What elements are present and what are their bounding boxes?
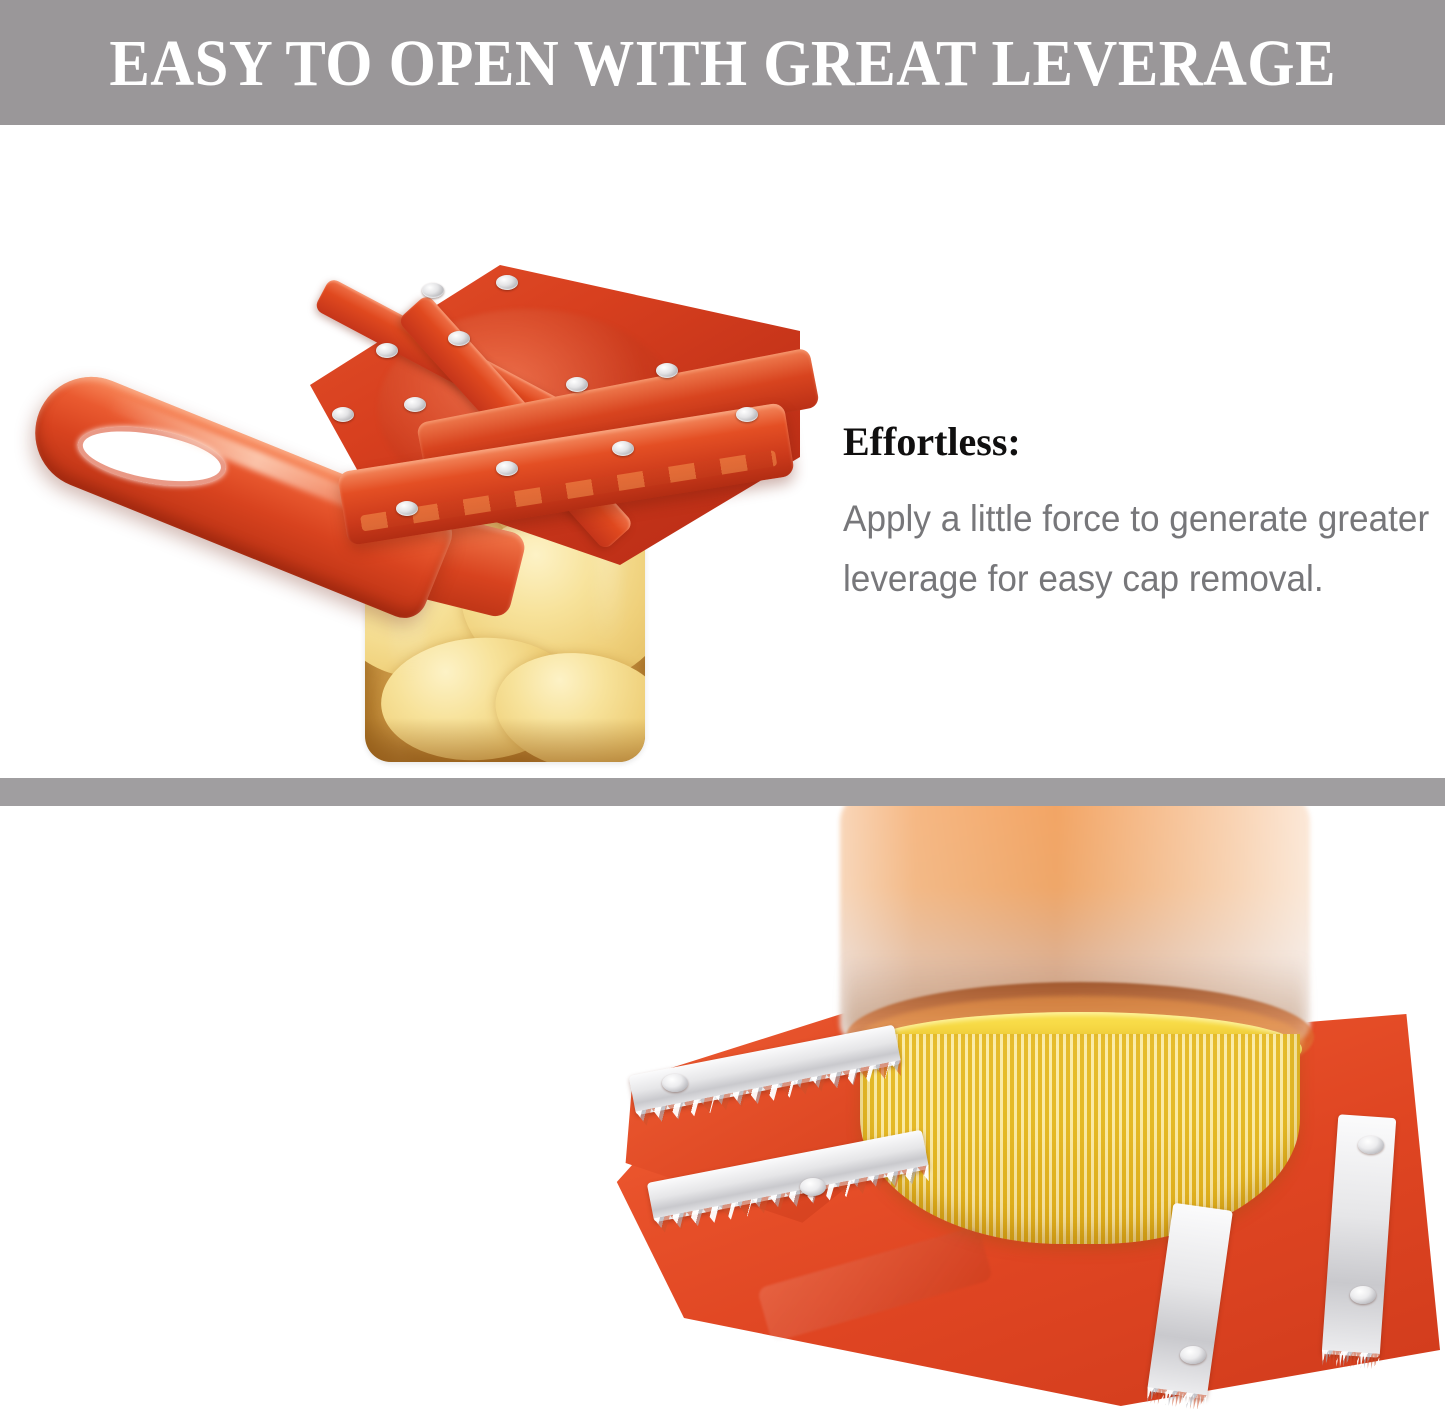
panel-effortless: Effortless: Apply a little force to gene… [0, 125, 1445, 778]
metal-rivet [496, 275, 518, 290]
header-band: EASY TO OPEN WITH GREAT LEVERAGE [0, 0, 1445, 125]
metal-rivet [448, 331, 470, 346]
metal-rivet [496, 461, 518, 476]
feature-description: Apply a little force to generate greater… [843, 489, 1432, 609]
metal-rivet [332, 407, 354, 422]
metal-rivet [736, 407, 758, 422]
feature-heading: Effortless: [843, 421, 1443, 463]
page-title: EASY TO OPEN WITH GREAT LEVERAGE [109, 31, 1336, 97]
metal-rivet [1180, 1346, 1206, 1364]
metal-rivet [662, 1074, 688, 1092]
product-photo-teeth-gripping-cap [0, 806, 1445, 1409]
metal-rivet [422, 283, 444, 298]
metal-rivet [656, 363, 678, 378]
metal-rivet [396, 501, 418, 516]
metal-rivet [404, 397, 426, 412]
panel-divider [0, 778, 1445, 806]
triangular-clamp-head [300, 265, 800, 565]
product-photo-opener-on-jar [0, 125, 820, 778]
metal-rivet [612, 441, 634, 456]
panel-no-slip-action: No–Slip Action: 2 Sharp steel teeth secu… [0, 806, 1445, 1409]
copy-block-effortless: Effortless: Apply a little force to gene… [843, 421, 1443, 609]
product-infographic: EASY TO OPEN WITH GREAT LEVERAGE [0, 0, 1445, 1409]
metal-rivet [800, 1178, 826, 1196]
metal-rivet [376, 343, 398, 358]
metal-rivet [566, 377, 588, 392]
metal-rivet [1358, 1136, 1384, 1154]
metal-rivet [1350, 1286, 1376, 1304]
